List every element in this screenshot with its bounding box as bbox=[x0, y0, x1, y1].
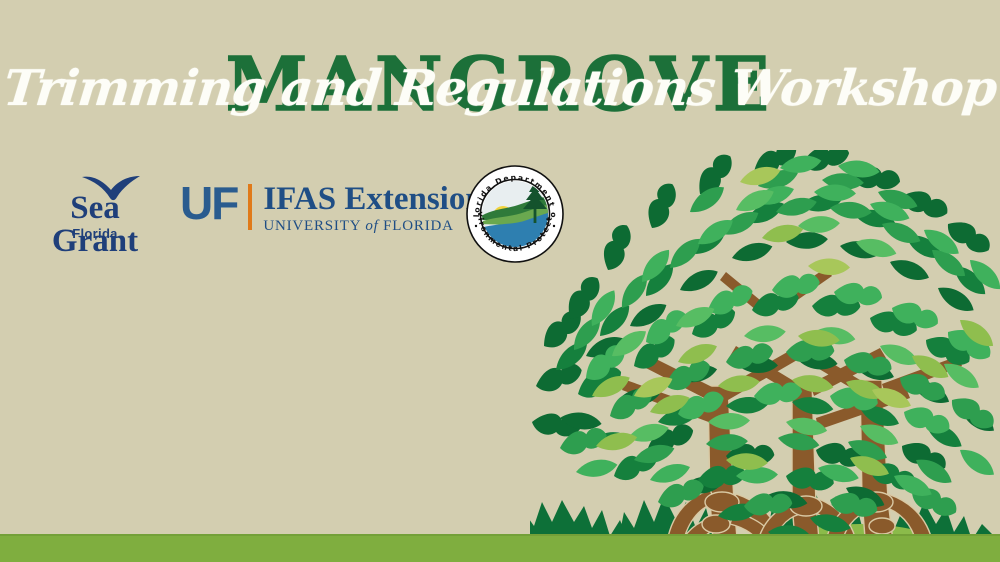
uf-monogram: UF bbox=[180, 182, 237, 224]
uf-ifas-logo: UF IFAS Extension UNIVERSITY of FLORIDA bbox=[180, 182, 484, 242]
uf-divider-bar bbox=[248, 184, 252, 230]
poster-subtitle: Trimming and Regulations Workshop bbox=[0, 62, 1000, 116]
logo-row: Sea Grant Florida UF IFAS Extension UNIV… bbox=[0, 160, 1000, 266]
uf-university-word: UNIVERSITY bbox=[263, 218, 365, 234]
fdep-seal-logo: Florida Department of Environmental Prot… bbox=[465, 164, 565, 264]
sea-grant-wordmark: Sea Grant bbox=[24, 192, 166, 258]
uf-ifas-extension-text: IFAS Extension bbox=[263, 183, 483, 217]
uf-florida-word: FLORIDA bbox=[379, 218, 454, 234]
poster-canvas: MANGROVE Trimming and Regulations Worksh… bbox=[0, 0, 1000, 562]
sea-grant-logo: Sea Grant Florida bbox=[24, 174, 166, 252]
ground-strip bbox=[0, 534, 1000, 562]
uf-university-text: UNIVERSITY of FLORIDA bbox=[263, 218, 483, 235]
sea-grant-state: Florida bbox=[24, 226, 166, 241]
uf-of-word: of bbox=[365, 218, 378, 234]
